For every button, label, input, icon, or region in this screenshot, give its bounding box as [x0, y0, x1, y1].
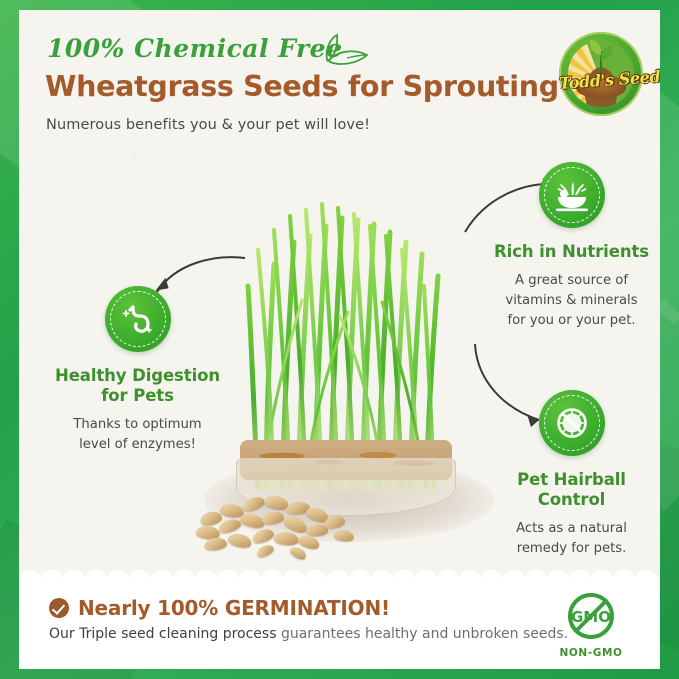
triple-clean-strong: Our Triple seed cleaning process — [49, 626, 277, 642]
benefit-body-line3: for you or your pet. — [507, 313, 635, 328]
tagline: 100% Chemical Free — [47, 34, 343, 63]
triple-clean-rest: guarantees healthy and unbroken seeds. — [277, 626, 569, 642]
benefit-title-line1: Pet Hairball — [517, 470, 626, 489]
poster-card: 100% Chemical Free Wheatgrass Seeds for … — [19, 10, 660, 669]
benefit-title-line2: Control — [538, 490, 606, 509]
benefit-title-line1: Rich in Nutrients — [494, 242, 649, 261]
page-title: Wheatgrass Seeds for Sprouting — [45, 70, 559, 103]
non-gmo-label: NON-GMO — [554, 647, 628, 659]
wheat-seed-pile-icon — [194, 482, 364, 554]
scallop-divider — [19, 563, 660, 585]
check-circle-icon — [49, 598, 69, 618]
benefit-body-line1: Acts as a natural — [516, 521, 627, 536]
germination-claim: Nearly 100% GERMINATION! — [49, 596, 390, 620]
benefit-body-line2: level of enzymes! — [79, 437, 196, 452]
brand-logo[interactable]: Todd's Seeds — [559, 32, 643, 116]
vegetable-bowl-icon — [539, 162, 605, 228]
benefit-body: A great source of vitamins & minerals fo… — [489, 271, 654, 331]
page-subtitle: Numerous benefits you & your pet will lo… — [46, 117, 370, 133]
germination-text: Nearly 100% GERMINATION! — [78, 596, 390, 620]
triple-clean-text: Our Triple seed cleaning process guarant… — [49, 626, 568, 642]
benefit-body-line2: vitamins & minerals — [505, 293, 637, 308]
benefit-body-line2: remedy for pets. — [517, 541, 627, 556]
benefit-body: Thanks to optimum level of enzymes! — [35, 415, 240, 455]
non-gmo-badge-icon: GMO — [566, 591, 616, 641]
infographic-poster: 100% Chemical Free Wheatgrass Seeds for … — [0, 0, 679, 679]
footer-bar: Nearly 100% GERMINATION! Our Triple seed… — [19, 583, 660, 669]
stomach-icon — [105, 286, 171, 352]
benefit-title-line2: for Pets — [101, 386, 174, 405]
benefit-title: Rich in Nutrients — [489, 242, 654, 262]
non-gmo-badge: GMO NON-GMO — [554, 591, 628, 659]
benefit-body-line1: A great source of — [515, 273, 628, 288]
benefit-body-line1: Thanks to optimum — [73, 417, 201, 432]
no-hairball-icon — [539, 390, 605, 456]
benefit-pet-hairball-control[interactable]: Pet Hairball Control Acts as a natural r… — [489, 390, 654, 559]
benefit-healthy-digestion[interactable]: Healthy Digestion for Pets Thanks to opt… — [35, 286, 240, 455]
benefit-rich-in-nutrients[interactable]: Rich in Nutrients A great source of vita… — [489, 162, 654, 331]
benefit-title: Pet Hairball Control — [489, 470, 654, 510]
benefit-title: Healthy Digestion for Pets — [35, 366, 240, 406]
benefit-title-line1: Healthy Digestion — [55, 366, 220, 385]
benefit-body: Acts as a natural remedy for pets. — [489, 519, 654, 559]
leaf-accent-icon — [307, 32, 371, 72]
